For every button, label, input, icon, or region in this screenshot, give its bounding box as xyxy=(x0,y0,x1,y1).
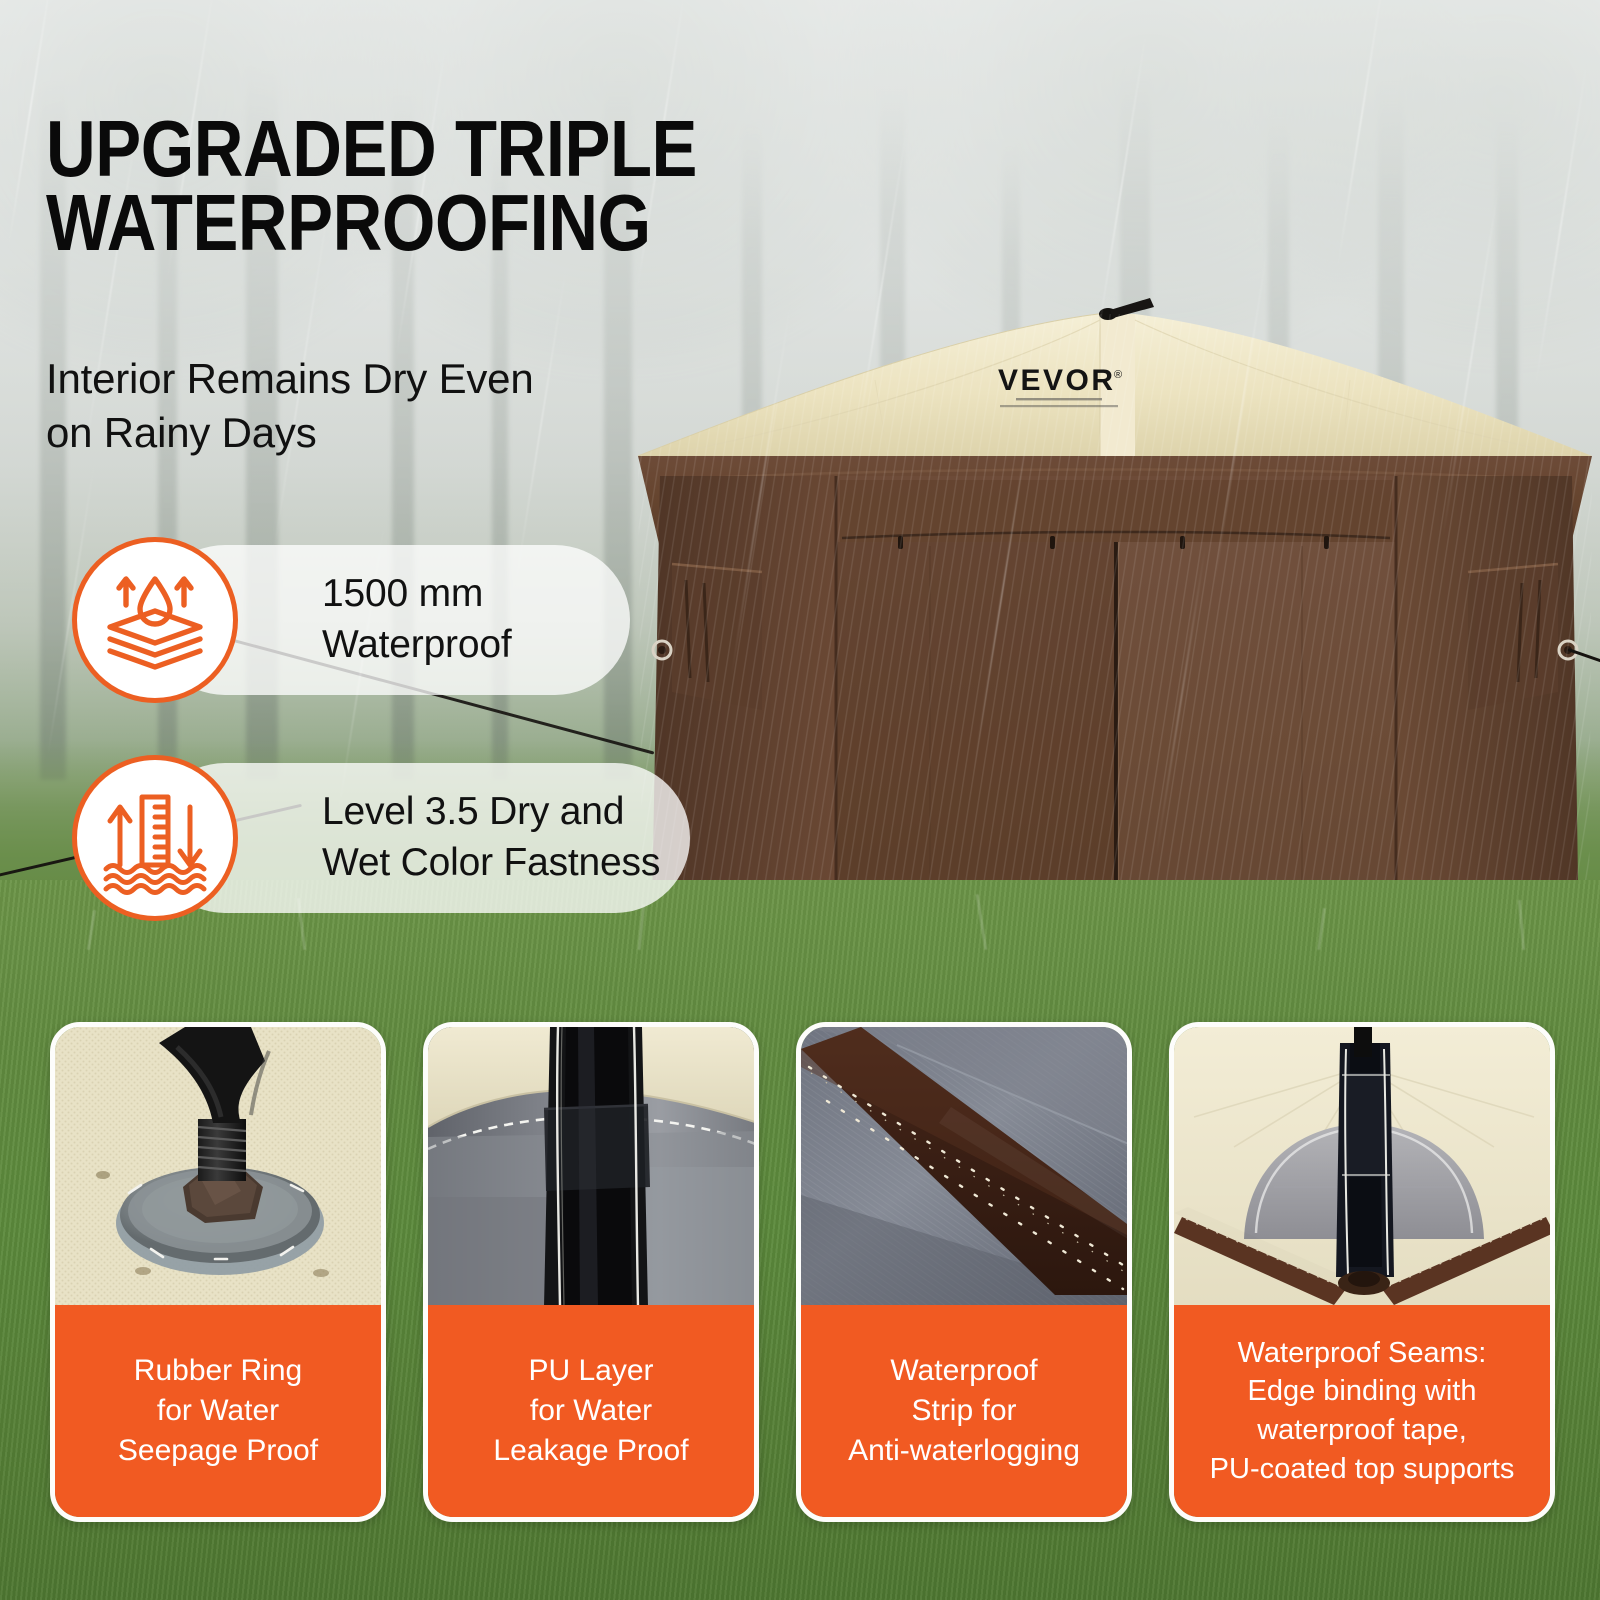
feature-2-line-1: Level 3.5 Dry and xyxy=(322,787,660,838)
color-fastness-gauge-icon xyxy=(72,755,238,921)
detail-card-waterproof-strip[interactable]: Waterproof Strip for Anti-waterlogging xyxy=(796,1022,1132,1522)
card-4-caption-line-4: PU-coated top supports xyxy=(1210,1450,1515,1489)
feature-text-waterproof: 1500 mm Waterproof xyxy=(322,569,537,670)
card-3-caption-line-3: Anti-waterlogging xyxy=(848,1431,1080,1471)
rubber-ring-grommet-photo xyxy=(55,1027,381,1305)
promo-image: VEVOR ® xyxy=(0,0,1600,1600)
gazebo-tent: VEVOR ® xyxy=(630,280,1600,960)
card-2-caption-line-3: Leakage Proof xyxy=(493,1431,688,1471)
card-1-caption-line-3: Seepage Proof xyxy=(118,1431,318,1471)
card-4-caption-line-3: waterproof tape, xyxy=(1210,1411,1515,1450)
headline-line-2: WATERPROOFING xyxy=(46,186,760,260)
feature-2-line-2: Wet Color Fastness xyxy=(322,838,660,889)
feature-text-color-fastness: Level 3.5 Dry and Wet Color Fastness xyxy=(322,787,686,888)
water-drop-layers-icon xyxy=(72,537,238,703)
card-2-caption-line-2: for Water xyxy=(493,1391,688,1431)
headline-line-1: UPGRADED TRIPLE xyxy=(46,112,760,186)
page-subtitle: Interior Remains Dry Even on Rainy Days xyxy=(46,352,686,460)
subhead-line-2: on Rainy Days xyxy=(46,406,686,460)
brand-wordmark: VEVOR xyxy=(998,364,1116,397)
card-1-caption-line-1: Rubber Ring xyxy=(118,1351,318,1391)
detail-card-pu-layer[interactable]: PU Layer for Water Leakage Proof xyxy=(423,1022,759,1522)
card-2-caption-line-1: PU Layer xyxy=(493,1351,688,1391)
detail-card-row: Rubber Ring for Water Seepage Proof xyxy=(0,1014,1600,1600)
card-3-caption-line-1: Waterproof xyxy=(848,1351,1080,1391)
registered-mark: ® xyxy=(1114,369,1122,381)
page-title: UPGRADED TRIPLE WATERPROOFING xyxy=(46,112,760,259)
feature-1-line-2: Waterproof xyxy=(322,620,511,671)
card-1-caption-line-2: for Water xyxy=(118,1391,318,1431)
waterproof-seams-apex-photo xyxy=(1174,1027,1550,1305)
card-3-caption-line-2: Strip for xyxy=(848,1391,1080,1431)
detail-card-rubber-ring[interactable]: Rubber Ring for Water Seepage Proof xyxy=(50,1022,386,1522)
pu-layer-seam-photo xyxy=(428,1027,754,1305)
caption-rubber-ring: Rubber Ring for Water Seepage Proof xyxy=(55,1305,381,1517)
caption-pu-layer: PU Layer for Water Leakage Proof xyxy=(428,1305,754,1517)
waterproof-strip-photo xyxy=(801,1027,1127,1305)
caption-waterproof-seams: Waterproof Seams: Edge binding with wate… xyxy=(1174,1305,1550,1517)
detail-card-waterproof-seams[interactable]: Waterproof Seams: Edge binding with wate… xyxy=(1169,1022,1555,1522)
feature-1-line-1: 1500 mm xyxy=(322,569,511,620)
card-4-caption-line-2: Edge binding with xyxy=(1210,1372,1515,1411)
card-4-caption-line-1: Waterproof Seams: xyxy=(1210,1334,1515,1373)
caption-waterproof-strip: Waterproof Strip for Anti-waterlogging xyxy=(801,1305,1127,1517)
subhead-line-1: Interior Remains Dry Even xyxy=(46,352,686,406)
